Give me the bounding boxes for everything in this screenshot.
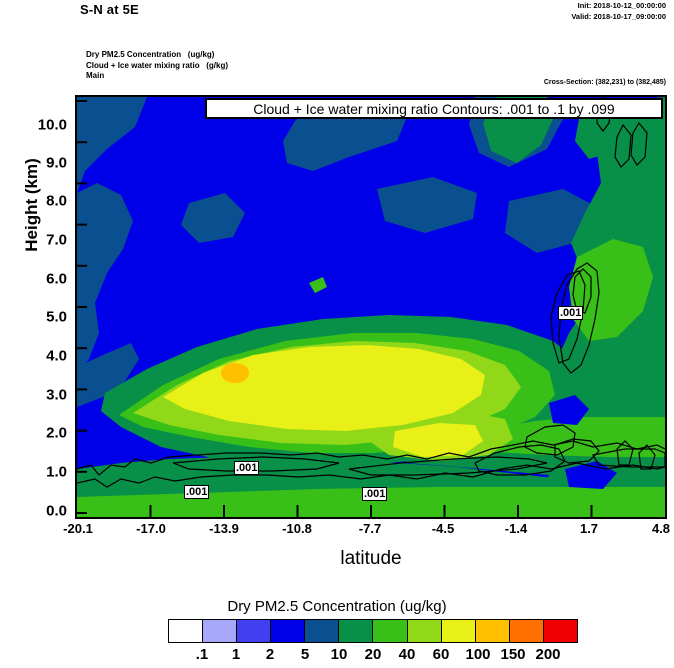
colorbar-tick: 100	[465, 646, 490, 663]
y-tick: 5.0	[46, 309, 67, 326]
colorbar-swatch	[305, 620, 339, 642]
field-line-2: Cloud + Ice water mixing ratio (g/kg)	[86, 61, 228, 72]
x-tick: -4.5	[432, 521, 454, 536]
colorbar-tick: 1	[232, 646, 240, 663]
colorbar-swatch	[544, 620, 577, 642]
colorbar-tick: 10	[331, 646, 348, 663]
page-title: S-N at 5E	[80, 2, 139, 17]
contour-label: .001	[184, 485, 209, 499]
colorbar-labels: .1 1 2 5 10 20 40 60 100 150 200	[168, 646, 578, 666]
y-tick: 1.0	[46, 464, 67, 481]
y-tick: 9.0	[46, 155, 67, 172]
colorbar-tick: 20	[365, 646, 382, 663]
x-tick: -7.7	[359, 521, 381, 536]
x-axis: -20.1 -17.0 -13.9 -10.8 -7.7 -4.5 -1.4 1…	[75, 521, 667, 541]
colorbar-swatch	[373, 620, 407, 642]
y-tick: 4.0	[46, 348, 67, 365]
contour-label: .001	[558, 306, 583, 320]
colorbar-swatch	[510, 620, 544, 642]
contour-label: .001	[234, 461, 259, 475]
x-tick: -13.9	[209, 521, 239, 536]
contour-label: .001	[362, 487, 387, 501]
cross-section-coords: Cross-Section: (382,231) to (382,485)	[544, 79, 666, 86]
colorbar-tick: 200	[535, 646, 560, 663]
colorbar-tick: .1	[196, 646, 209, 663]
valid-time: Valid: 2018-10-17_09:00:00	[571, 12, 666, 23]
colorbar-tick: 5	[301, 646, 309, 663]
model-run-info: Init: 2018-10-12_00:00:00 Valid: 2018-10…	[571, 1, 666, 22]
y-tick: 7.0	[46, 232, 67, 249]
y-tick: 3.0	[46, 387, 67, 404]
colorbar-swatch	[203, 620, 237, 642]
field-line-1: Dry PM2.5 Concentration (ug/kg)	[86, 50, 228, 61]
colorbar-swatch	[339, 620, 373, 642]
field-description: Dry PM2.5 Concentration (ug/kg) Cloud + …	[86, 50, 228, 82]
colorbar-swatch	[476, 620, 510, 642]
x-axis-label: latitude	[75, 548, 667, 570]
x-tick: 4.8	[652, 521, 670, 536]
colorbar-tick: 2	[266, 646, 274, 663]
y-tick: 0.0	[46, 503, 67, 520]
colorbar-tick: 60	[433, 646, 450, 663]
y-tick: 8.0	[46, 193, 67, 210]
y-tick: 10.0	[38, 117, 67, 134]
colorbar-tick: 40	[399, 646, 416, 663]
init-time: Init: 2018-10-12_00:00:00	[571, 1, 666, 12]
colorbar-tick: 150	[500, 646, 525, 663]
colorbar-swatch	[442, 620, 476, 642]
x-tick: 1.7	[580, 521, 598, 536]
contour-header-box: Cloud + Ice water mixing ratio Contours:…	[205, 98, 663, 119]
colorbar-swatch	[271, 620, 305, 642]
y-axis-label: Height (km)	[22, 95, 42, 315]
field-line-3: Main	[86, 71, 228, 82]
x-tick: -20.1	[63, 521, 93, 536]
colorbar-title: Dry PM2.5 Concentration (ug/kg)	[0, 598, 674, 615]
x-tick: -17.0	[136, 521, 166, 536]
colorbar-swatch	[169, 620, 203, 642]
colorbar	[168, 619, 578, 643]
colorbar-swatch	[237, 620, 271, 642]
x-tick: -1.4	[505, 521, 527, 536]
y-tick: 6.0	[46, 271, 67, 288]
colorbar-swatch	[408, 620, 442, 642]
x-tick: -10.8	[282, 521, 312, 536]
y-tick: 2.0	[46, 425, 67, 442]
